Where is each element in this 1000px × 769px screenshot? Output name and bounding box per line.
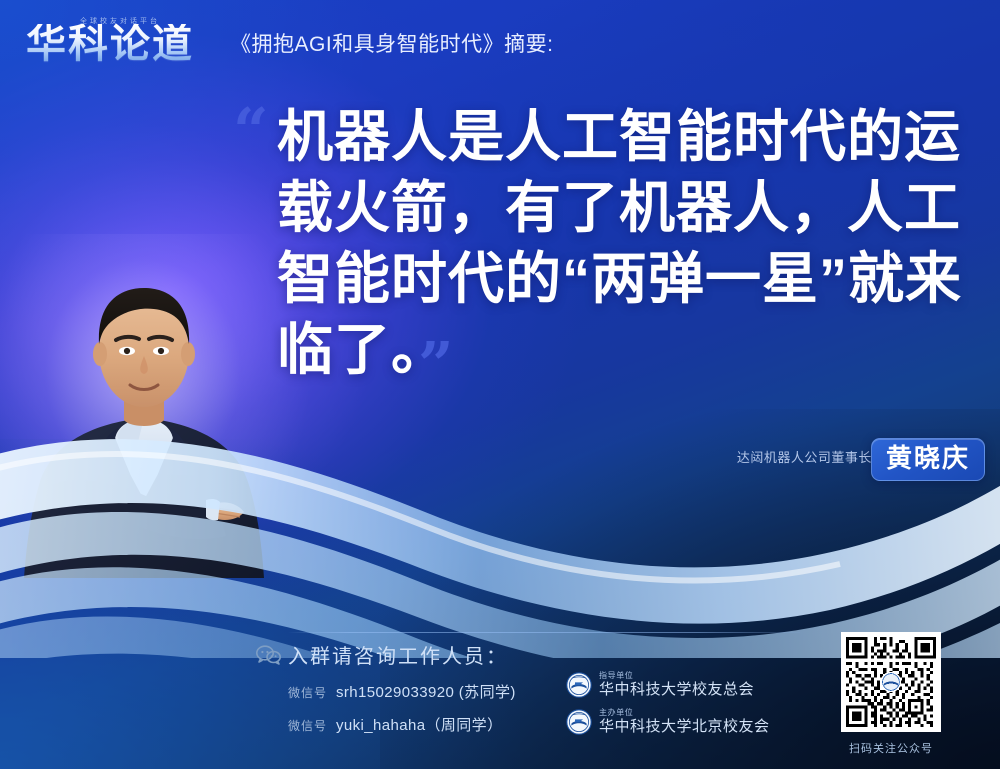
university-seal-icon <box>566 709 592 735</box>
organization-text: 主办单位 华中科技大学北京校友会 <box>599 709 770 734</box>
university-seal-icon <box>566 672 592 698</box>
organization-row: 指导单位 华中科技大学校友总会 <box>566 672 754 698</box>
qr-code[interactable] <box>841 632 941 732</box>
qr-caption: 扫码关注公众号 <box>838 740 944 756</box>
organization-name: 华中科技大学校友总会 <box>599 682 754 698</box>
quote-line: 机器人是人工智能时代的运 <box>277 101 947 172</box>
quote-close-mark: ” <box>418 334 454 396</box>
wechat-id: srh15029033920 (苏同学) <box>336 681 516 702</box>
organization-row: 主办单位 华中科技大学北京校友会 <box>566 709 770 735</box>
quote-line: 临了。 <box>277 314 947 385</box>
header-bar: 全球校友对话平台 华科论道 《拥抱AGI和具身智能时代》摘要: <box>0 0 1000 86</box>
wechat-label: 微信号 <box>288 717 327 734</box>
brand-logo: 全球校友对话平台 华科论道 <box>24 12 214 74</box>
quote-line: 载火箭，有了机器人，人工 <box>277 172 947 243</box>
quote-text: 机器人是人工智能时代的运 载火箭，有了机器人，人工 智能时代的“两弹一星”就来 … <box>277 101 947 385</box>
page-title: 《拥抱AGI和具身智能时代》摘要: <box>230 28 554 58</box>
poster-canvas: 全球校友对话平台 华科论道 《拥抱AGI和具身智能时代》摘要: <box>0 0 1000 769</box>
quote-line: 智能时代的“两弹一星”就来 <box>277 243 947 314</box>
wechat-row: 微信号 srh15029033920 (苏同学) <box>288 681 516 702</box>
speaker-name-badge: 黄晓庆 <box>871 438 985 481</box>
contact-heading: 入群请咨询工作人员： <box>288 640 508 669</box>
logo-title: 华科论道 <box>26 24 194 64</box>
wechat-icon <box>256 645 282 670</box>
footer-divider <box>288 632 800 633</box>
wechat-label: 微信号 <box>288 684 327 701</box>
wechat-id: yuki_hahaha（周同学） <box>336 714 502 735</box>
organization-text: 指导单位 华中科技大学校友总会 <box>599 672 754 697</box>
quote-open-mark: “ <box>233 100 269 162</box>
wechat-row: 微信号 yuki_hahaha（周同学） <box>288 714 503 735</box>
organization-name: 华中科技大学北京校友会 <box>599 719 770 735</box>
speaker-portrait <box>18 268 270 578</box>
organization-kind: 指导单位 <box>599 672 754 680</box>
organization-kind: 主办单位 <box>599 709 770 717</box>
